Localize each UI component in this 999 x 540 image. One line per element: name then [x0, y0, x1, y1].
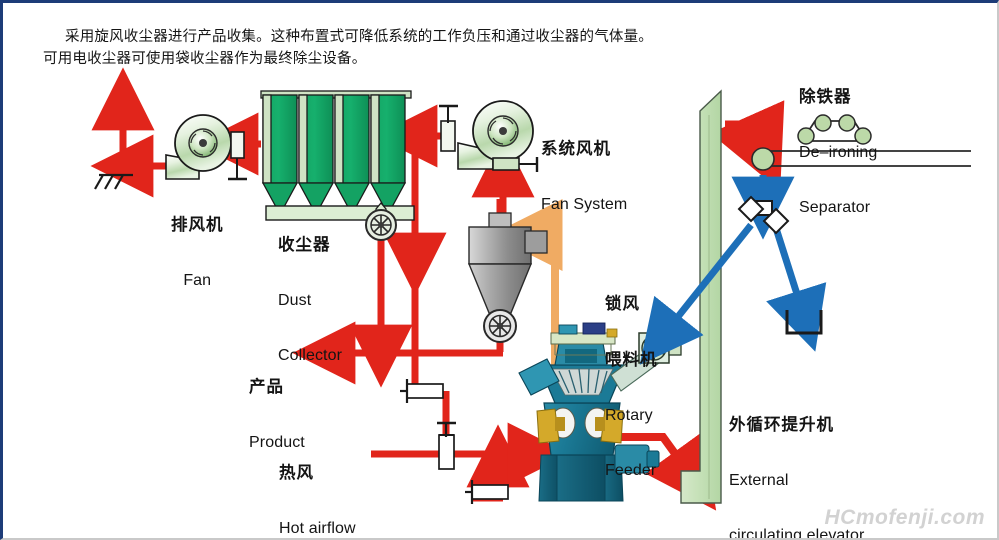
collection-bin	[787, 310, 821, 333]
system-fan	[439, 101, 537, 172]
label-product-cn: 产品	[249, 377, 305, 397]
label-elevator-cn: 外循环提升机	[729, 415, 864, 435]
label-rotary-feeder-en1: Rotary	[605, 406, 658, 425]
valve-hot-air-inlet	[472, 485, 508, 499]
label-hot-airflow: 热风 Hot airflow	[279, 427, 356, 540]
label-fan-system-en: Fan System	[541, 195, 627, 214]
bucket-elevator	[681, 91, 721, 503]
label-exhaust-fan-cn: 排风机	[171, 215, 224, 235]
system-fan-damper	[441, 121, 455, 151]
rotary-airlock-collector	[366, 210, 396, 240]
label-rotary-feeder-cn2: 喂料机	[605, 350, 658, 370]
label-fan-system-cn: 系统风机	[541, 139, 627, 159]
label-de-ironing-cn: 除铁器	[799, 87, 877, 107]
label-hot-airflow-cn: 热风	[279, 463, 356, 483]
label-rotary-feeder-cn1: 锁风	[605, 294, 658, 314]
exhaust-fan	[166, 115, 247, 179]
cyclone-separator	[469, 213, 547, 342]
valve-product-line	[407, 384, 443, 398]
watermark: HCmofenji.com	[824, 506, 985, 530]
note-line-2: 可用电收尘器可使用袋收尘器作为最终除尘设备。	[43, 48, 366, 70]
ground-symbol	[95, 175, 133, 189]
label-dust-collector-en1: Dust	[278, 291, 342, 310]
rotary-airlock-cyclone	[484, 310, 516, 342]
system-fan-outlet-valve	[493, 158, 519, 170]
diagram-canvas: 采用旋风收尘器进行产品收集。这种布置式可降低系统的工作负压和通过收尘器的气体量。…	[3, 3, 997, 538]
label-rotary-feeder-en2: Feeder	[605, 461, 658, 480]
conveyor-head-pulley	[752, 148, 774, 170]
label-fan-system: 系统风机 Fan System	[541, 103, 627, 250]
label-de-ironing-en1: De–ironing	[799, 143, 877, 162]
note-line-1: 采用旋风收尘器进行产品收集。这种布置式可降低系统的工作负压和通过收尘器的气体量。	[65, 26, 653, 48]
label-dust-collector-cn: 收尘器	[278, 235, 342, 255]
pipe-valves	[400, 379, 508, 504]
fan-inlet-damper	[231, 132, 244, 158]
label-elevator-en1: External	[729, 471, 864, 490]
label-rotary-feeder: 锁风 喂料机 Rotary Feeder	[605, 258, 658, 516]
label-hot-airflow-en: Hot airflow	[279, 519, 356, 538]
diagram-page: 采用旋风收尘器进行产品收集。这种布置式可降低系统的工作负压和通过收尘器的气体量。…	[0, 0, 999, 540]
flow-elevator-to-conveyor	[725, 125, 759, 143]
valve-hot-air-header	[439, 435, 454, 469]
label-de-ironing: 除铁器 De–ironing Separator	[799, 51, 877, 253]
label-exhaust-fan: 排风机 Fan	[171, 179, 224, 326]
flow-lines-blue	[665, 175, 803, 333]
label-de-ironing-en2: Separator	[799, 198, 877, 217]
label-exhaust-fan-en: Fan	[171, 271, 224, 290]
